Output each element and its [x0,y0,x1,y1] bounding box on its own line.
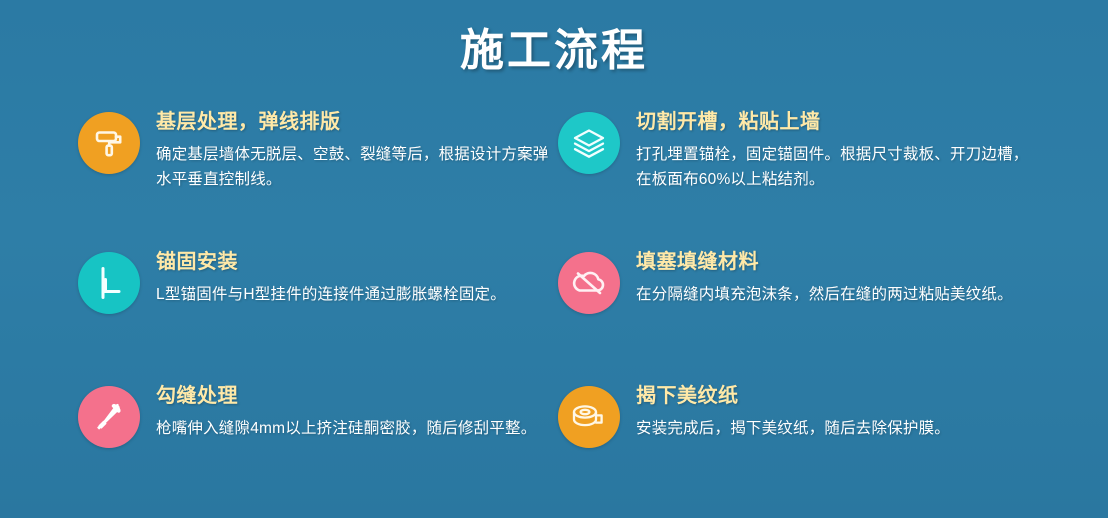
step-item[interactable]: 基层处理，弹线排版 确定基层墙体无脱层、空鼓、裂缝等后，根据设计方案弹水平垂直控… [78,108,558,248]
step-text: 揭下美纹纸 安装完成后，揭下美纹纸，随后去除保护膜。 [636,382,950,441]
l-bracket-icon [78,252,140,314]
step-item[interactable]: 填塞填缝材料 在分隔缝内填充泡沫条，然后在缝的两过粘贴美纹纸。 [558,248,1038,382]
step-title: 填塞填缝材料 [636,250,1013,275]
step-item[interactable]: 切割开槽，粘贴上墙 打孔埋置锚栓，固定锚固件。根据尺寸裁板、开刀边槽，在板面布6… [558,108,1038,248]
page-title: 施工流程 [0,26,1108,77]
step-description: 在分隔缝内填充泡沫条，然后在缝的两过粘贴美纹纸。 [636,282,1013,307]
step-text: 锚固安装 L型锚固件与H型挂件的连接件通过膨胀螺栓固定。 [156,248,506,307]
step-text: 勾缝处理 枪嘴伸入缝隙4mm以上挤注硅酮密胶，随后修刮平整。 [156,382,536,441]
step-text: 填塞填缝材料 在分隔缝内填充泡沫条，然后在缝的两过粘贴美纹纸。 [636,248,1013,307]
step-title: 切割开槽，粘贴上墙 [636,110,1036,135]
step-item[interactable]: 勾缝处理 枪嘴伸入缝隙4mm以上挤注硅酮密胶，随后修刮平整。 [78,382,558,510]
step-description: 确定基层墙体无脱层、空鼓、裂缝等后，根据设计方案弹水平垂直控制线。 [156,142,556,192]
step-text: 切割开槽，粘贴上墙 打孔埋置锚栓，固定锚固件。根据尺寸裁板、开刀边槽，在板面布6… [636,108,1036,192]
step-title: 基层处理，弹线排版 [156,110,556,135]
step-description: 安装完成后，揭下美纹纸，随后去除保护膜。 [636,416,950,441]
step-item[interactable]: 锚固安装 L型锚固件与H型挂件的连接件通过膨胀螺栓固定。 [78,248,558,382]
step-title: 勾缝处理 [156,384,536,409]
paint-roller-icon [78,112,140,174]
slide-background: 施工流程 基层处理，弹线排版 确定基层墙体无脱层、空鼓、裂缝等后，根据设计方案弹… [0,0,1108,518]
step-title: 揭下美纹纸 [636,384,950,409]
steps-grid: 基层处理，弹线排版 确定基层墙体无脱层、空鼓、裂缝等后，根据设计方案弹水平垂直控… [78,108,1038,510]
step-description: L型锚固件与H型挂件的连接件通过膨胀螺栓固定。 [156,282,506,307]
caulk-syringe-icon [78,386,140,448]
layers-icon [558,112,620,174]
step-text: 基层处理，弹线排版 确定基层墙体无脱层、空鼓、裂缝等后，根据设计方案弹水平垂直控… [156,108,556,192]
step-title: 锚固安装 [156,250,506,275]
step-description: 枪嘴伸入缝隙4mm以上挤注硅酮密胶，随后修刮平整。 [156,416,536,441]
step-item[interactable]: 揭下美纹纸 安装完成后，揭下美纹纸，随后去除保护膜。 [558,382,1038,510]
cloud-off-icon [558,252,620,314]
step-description: 打孔埋置锚栓，固定锚固件。根据尺寸裁板、开刀边槽，在板面布60%以上粘结剂。 [636,142,1036,192]
tape-roll-icon [558,386,620,448]
